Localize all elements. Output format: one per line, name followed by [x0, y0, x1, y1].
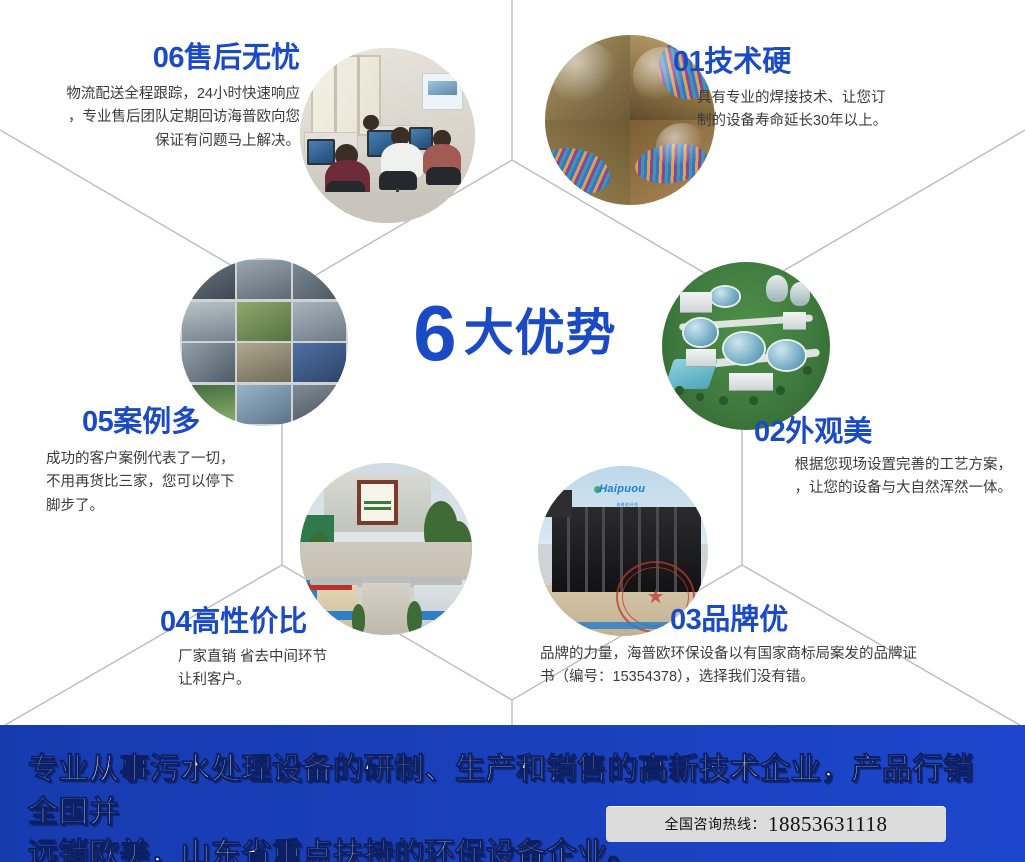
- advantage-04-heading: 04高性价比: [160, 608, 460, 637]
- advantage-block-04: 04高性价比 厂家直销 省去中间环节 让利客户。: [160, 608, 460, 693]
- collage-thumb: [237, 343, 290, 382]
- photo-project-cases-collage: [180, 258, 348, 426]
- advantage-03-body: 品牌的力量，海普欧环保设备以有国家商标局案发的品牌证 书（编号：15354378…: [540, 643, 1010, 690]
- advantage-01-number: 01: [673, 46, 704, 78]
- advantage-block-02: 02外观美 根据您现场设置完善的工艺方案， ，让您的设备与大自然浑然一体。: [700, 418, 1012, 501]
- infographic-page: 6 大优势: [0, 0, 1025, 862]
- advantage-02-body: 根据您现场设置完善的工艺方案， ，让您的设备与大自然浑然一体。: [700, 454, 1012, 501]
- collage-thumb: [293, 260, 346, 299]
- photo-aerial-treatment-plant: [662, 262, 830, 430]
- photo-office-staff: [300, 48, 475, 223]
- collage-thumb: [182, 260, 235, 299]
- advantage-01-title: 技术硬: [704, 46, 791, 78]
- advantage-03-number: 03: [670, 604, 701, 636]
- advantage-03-title: 品牌优: [701, 604, 788, 636]
- advantage-02-heading: 02外观美: [754, 418, 1012, 447]
- advantage-03-heading: 03品牌优: [670, 606, 1010, 635]
- center-word: 大优势: [464, 308, 617, 358]
- advantage-block-01: 01技术硬 具有专业的焊接技术、让您订 制的设备寿命延长30年以上。: [673, 48, 1003, 134]
- advantage-06-title: 售后无忧: [184, 42, 300, 74]
- collage-thumb: [182, 343, 235, 382]
- advantage-02-number: 02: [754, 416, 785, 448]
- advantage-02-title: 外观美: [785, 416, 872, 448]
- collage-thumb: [293, 302, 346, 341]
- advantage-06-number: 06: [153, 42, 184, 74]
- advantage-04-title: 高性价比: [191, 606, 307, 638]
- brand-watermark-sub: 海普欧环保: [616, 502, 639, 508]
- center-title: 6 大优势: [385, 288, 645, 378]
- collage-thumb: [182, 302, 235, 341]
- advantage-05-title: 案例多: [113, 406, 200, 438]
- advantage-06-heading: 06售后无忧: [10, 44, 300, 73]
- brand-watermark: Haipuou: [599, 483, 645, 495]
- collage-thumb: [237, 260, 290, 299]
- advantage-04-body: 厂家直销 省去中间环节 让利客户。: [178, 646, 460, 693]
- hotline-box[interactable]: 全国咨询热线： 18853631118: [606, 806, 946, 842]
- advantage-01-body: 具有专业的焊接技术、让您订 制的设备寿命延长30年以上。: [697, 87, 1003, 134]
- advantage-block-03: 03品牌优 品牌的力量，海普欧环保设备以有国家商标局案发的品牌证 书（编号：15…: [540, 606, 1010, 690]
- hotline-number: 18853631118: [768, 812, 887, 837]
- advantage-05-body: 成功的客户案例代表了一切， 不用再货比三家，您可以停下 脚步了。: [46, 448, 326, 518]
- advantage-05-heading: 05案例多: [82, 408, 326, 437]
- advantage-06-body: 物流配送全程跟踪，24小时快速响应 ，专业售后团队定期回访海普欧向您 保证有问题…: [10, 83, 300, 153]
- hotline-label: 全国咨询热线：: [665, 814, 767, 834]
- collage-thumb: [293, 343, 346, 382]
- advantage-block-06: 06售后无忧 物流配送全程跟踪，24小时快速响应 ，专业售后团队定期回访海普欧向…: [10, 44, 300, 153]
- advantage-block-05: 05案例多 成功的客户案例代表了一切， 不用再货比三家，您可以停下 脚步了。: [46, 408, 326, 518]
- advantage-04-number: 04: [160, 606, 191, 638]
- advantage-05-number: 05: [82, 406, 113, 438]
- advantage-01-heading: 01技术硬: [673, 48, 1003, 77]
- collage-thumb: [237, 302, 290, 341]
- center-number: 6: [413, 294, 454, 372]
